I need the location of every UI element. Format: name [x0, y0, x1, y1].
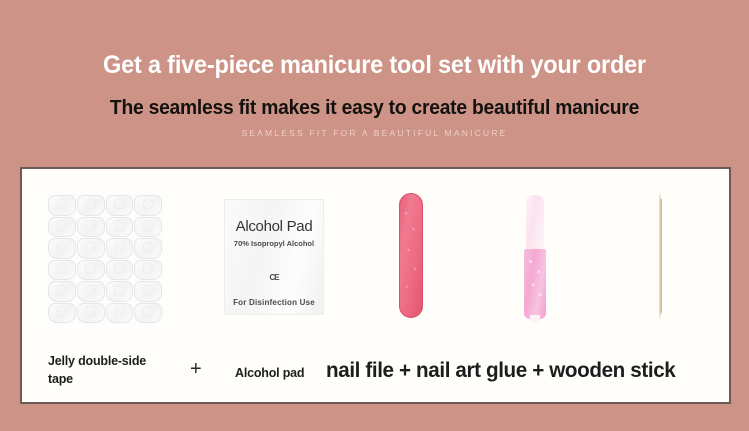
- tape-tab: [134, 195, 162, 216]
- tape-tab: [106, 281, 134, 302]
- glue-body: [524, 249, 546, 319]
- promo-tagline: SEAMLESS FIT FOR A BEAUTIFUL MANICURE: [0, 120, 749, 138]
- tape-tab: [48, 238, 76, 259]
- tape-tab: [77, 303, 105, 324]
- tape-tab: [134, 303, 162, 324]
- tape-tab: [48, 260, 76, 281]
- glue-tip: [530, 315, 540, 323]
- tape-tab: [134, 281, 162, 302]
- caption-jelly-double-side-tape: Jelly double-side tape: [48, 352, 168, 388]
- wooden-cuticle-stick-icon: [657, 191, 664, 321]
- tape-tab: [106, 303, 134, 324]
- tape-tab: [134, 238, 162, 259]
- tape-tab: [106, 217, 134, 238]
- tape-tab: [77, 260, 105, 281]
- tape-tab: [48, 217, 76, 238]
- product-showcase-panel: Alcohol Pad 70% Isopropyl Alcohol CE For…: [20, 167, 731, 404]
- alcohol-pad-package-subtitle: 70% Isopropyl Alcohol: [225, 235, 323, 248]
- adhesive-tape-sheet-icon: [46, 193, 164, 325]
- glue-cap: [526, 195, 544, 251]
- caption-tool-group: nail file + nail art glue + wooden stick: [326, 358, 675, 383]
- ce-mark-icon: CE: [225, 248, 323, 282]
- promo-header: Get a five-piece manicure tool set with …: [0, 0, 749, 138]
- tape-tab: [48, 281, 76, 302]
- product-caption-row: Jelly double-side tape + Alcohol pad nai…: [22, 341, 729, 404]
- tape-tab: [134, 260, 162, 281]
- tape-tab: [48, 303, 76, 324]
- product-wooden-stick: [604, 169, 716, 341]
- tape-tab: [106, 195, 134, 216]
- caption-alcohol-pad: Alcohol pad: [235, 366, 304, 380]
- tape-tab: [106, 238, 134, 259]
- alcohol-pad-package-title: Alcohol Pad: [225, 200, 323, 235]
- tape-tab: [77, 238, 105, 259]
- stick-shaft: [659, 199, 662, 313]
- nail-glue-tube-icon: [524, 195, 546, 319]
- plus-separator-icon: +: [190, 358, 202, 381]
- product-alcohol-pad: Alcohol Pad 70% Isopropyl Alcohol CE For…: [208, 169, 338, 341]
- product-nail-art-glue: [478, 169, 594, 341]
- tape-tab: [48, 195, 76, 216]
- page-title: Get a five-piece manicure tool set with …: [22, 0, 726, 81]
- stick-tip-bottom: [659, 312, 661, 321]
- tape-tab: [77, 195, 105, 216]
- alcohol-pad-package-usage: For Disinfection Use: [225, 282, 323, 307]
- nail-file-icon: [399, 193, 423, 318]
- tape-tab: [134, 217, 162, 238]
- product-jelly-double-side-tape: [38, 169, 178, 341]
- tape-tab: [106, 260, 134, 281]
- product-nail-file: [358, 169, 468, 341]
- promo-subheadline: The seamless fit makes it easy to create…: [22, 81, 726, 120]
- alcohol-pad-sachet-icon: Alcohol Pad 70% Isopropyl Alcohol CE For…: [224, 199, 324, 315]
- tape-tab: [77, 217, 105, 238]
- product-image-row: Alcohol Pad 70% Isopropyl Alcohol CE For…: [22, 169, 729, 341]
- tape-tab: [77, 281, 105, 302]
